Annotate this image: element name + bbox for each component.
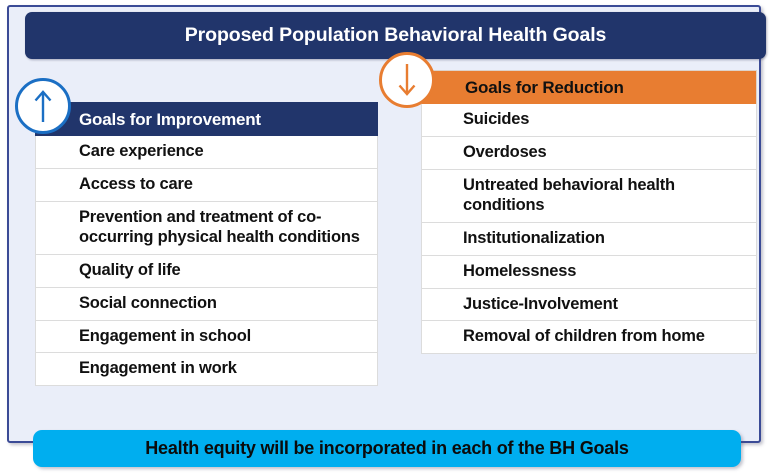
goals-for-reduction-header-label: Goals for Reduction	[465, 78, 624, 98]
goal-label: Suicides	[463, 109, 529, 130]
page-title: Proposed Population Behavioral Health Go…	[185, 24, 607, 47]
list-item[interactable]: Untreated behavioral health conditions	[421, 170, 757, 224]
goal-label: Overdoses	[463, 142, 547, 163]
goals-for-improvement-header: Goals for Improvement	[35, 102, 378, 136]
goals-for-improvement-column: Goals for Improvement Care experience Ac…	[35, 102, 378, 386]
goal-label: Engagement in work	[79, 358, 237, 379]
arrow-down-icon	[379, 52, 435, 108]
goals-for-reduction-column: Goals for Reduction Suicides Overdoses U…	[421, 70, 757, 354]
goal-label: Prevention and treatment of co-occurring…	[79, 207, 365, 249]
list-item[interactable]: Social connection	[35, 288, 378, 321]
list-item[interactable]: Quality of life	[35, 255, 378, 288]
list-item[interactable]: Prevention and treatment of co-occurring…	[35, 202, 378, 256]
goal-label: Institutionalization	[463, 228, 605, 249]
list-item[interactable]: Removal of children from home	[421, 321, 757, 354]
health-equity-banner-label: Health equity will be incorporated in ea…	[145, 438, 628, 459]
goal-label: Quality of life	[79, 260, 181, 281]
list-item[interactable]: Access to care	[35, 169, 378, 202]
goal-label: Removal of children from home	[463, 326, 705, 347]
goal-label: Justice-Involvement	[463, 294, 618, 315]
list-item[interactable]: Homelessness	[421, 256, 757, 289]
goal-label: Untreated behavioral health conditions	[463, 175, 744, 217]
list-item[interactable]: Overdoses	[421, 137, 757, 170]
slide-title-bar: Proposed Population Behavioral Health Go…	[25, 12, 766, 59]
goal-label: Social connection	[79, 293, 217, 314]
goal-label: Care experience	[79, 141, 204, 162]
goal-label: Access to care	[79, 174, 193, 195]
list-item[interactable]: Justice-Involvement	[421, 289, 757, 322]
goal-label: Engagement in school	[79, 326, 251, 347]
list-item[interactable]: Institutionalization	[421, 223, 757, 256]
health-equity-banner: Health equity will be incorporated in ea…	[33, 430, 741, 467]
list-item[interactable]: Care experience	[35, 136, 378, 169]
list-item[interactable]: Engagement in work	[35, 353, 378, 386]
arrow-up-icon	[15, 78, 71, 134]
goals-for-reduction-header: Goals for Reduction	[421, 70, 757, 104]
goals-for-improvement-header-label: Goals for Improvement	[79, 110, 261, 130]
list-item[interactable]: Suicides	[421, 104, 757, 137]
goal-label: Homelessness	[463, 261, 576, 282]
list-item[interactable]: Engagement in school	[35, 321, 378, 354]
